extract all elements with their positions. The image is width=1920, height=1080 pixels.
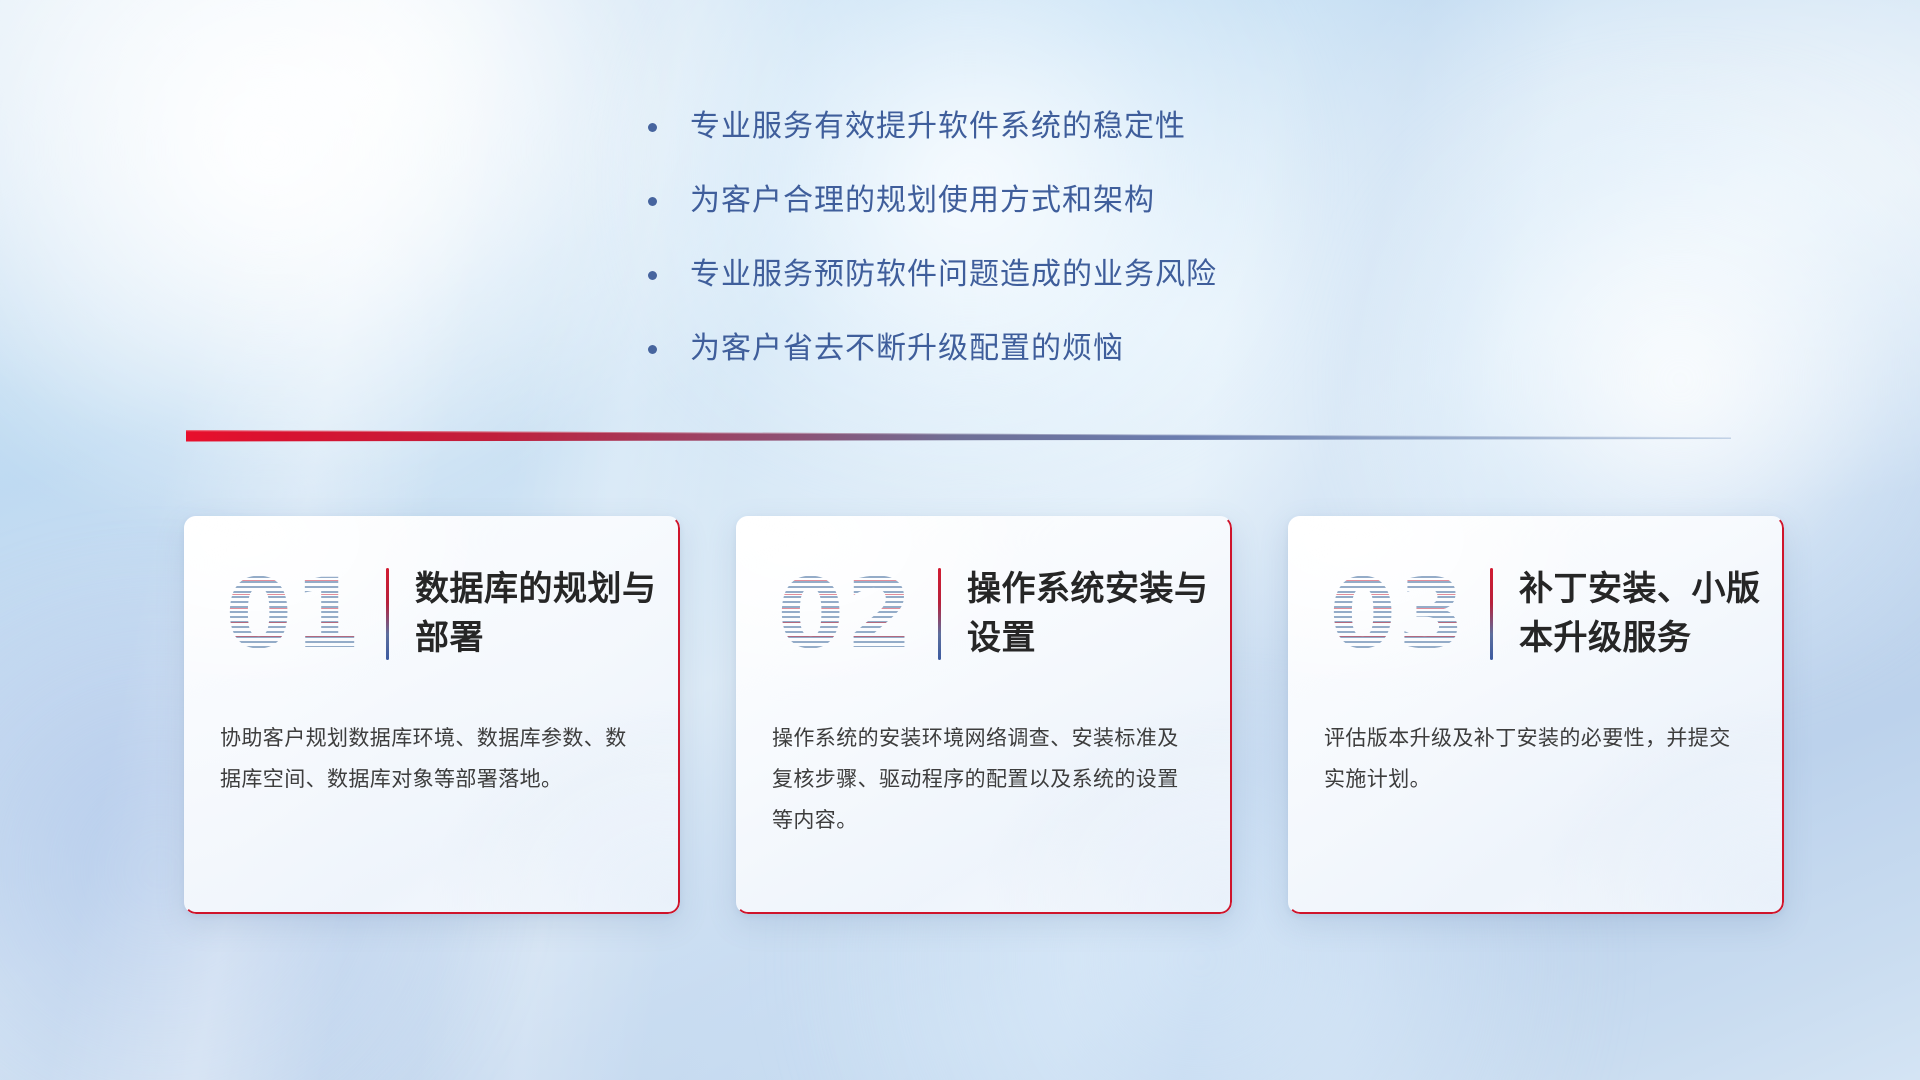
card-header: 02 操作系统安装与设置 <box>736 516 1232 698</box>
section-divider <box>186 428 1731 444</box>
service-card[interactable]: 03 补丁安装、小版本升级服务 评估版本升级及补丁安装的必要性，并提交实施计划。 <box>1288 516 1784 914</box>
bullet-item: 专业服务预防软件问题造成的业务风险 <box>648 252 1508 298</box>
card-description: 协助客户规划数据库环境、数据库参数、数据库空间、数据库对象等部署落地。 <box>220 718 646 800</box>
bullet-dot-icon <box>648 345 657 354</box>
service-card[interactable]: 01 数据库的规划与部署 协助客户规划数据库环境、数据库参数、数据库空间、数据库… <box>184 516 680 914</box>
benefits-bullet-list: 专业服务有效提升软件系统的稳定性 为客户合理的规划使用方式和架构 专业服务预防软… <box>648 104 1508 400</box>
bullet-item-label: 为客户省去不断升级配置的烦恼 <box>690 326 1124 372</box>
card-description: 操作系统的安装环境网络调查、安装标准及复核步骤、驱动程序的配置以及系统的设置等内… <box>772 718 1198 841</box>
card-title: 数据库的规划与部署 <box>415 565 680 663</box>
background-bloom-top-left <box>0 0 720 530</box>
card-vertical-rule <box>1490 568 1493 660</box>
bullet-dot-icon <box>648 197 657 206</box>
card-title: 补丁安装、小版本升级服务 <box>1519 565 1784 663</box>
divider-wedge-shape <box>186 428 1731 444</box>
service-card[interactable]: 02 操作系统安装与设置 操作系统的安装环境网络调查、安装标准及复核步骤、驱动程… <box>736 516 1232 914</box>
bullet-item-label: 为客户合理的规划使用方式和架构 <box>690 178 1155 224</box>
slide-canvas: 专业服务有效提升软件系统的稳定性 为客户合理的规划使用方式和架构 专业服务预防软… <box>0 0 1920 1080</box>
card-number: 01 <box>206 566 382 662</box>
bullet-item: 为客户省去不断升级配置的烦恼 <box>648 326 1508 372</box>
bullet-item: 专业服务有效提升软件系统的稳定性 <box>648 104 1508 150</box>
card-vertical-rule <box>938 568 941 660</box>
service-cards-row: 01 数据库的规划与部署 协助客户规划数据库环境、数据库参数、数据库空间、数据库… <box>184 516 1784 916</box>
bullet-item-label: 专业服务有效提升软件系统的稳定性 <box>690 104 1186 150</box>
card-vertical-rule <box>386 568 389 660</box>
card-description: 评估版本升级及补丁安装的必要性，并提交实施计划。 <box>1324 718 1750 800</box>
card-header: 01 数据库的规划与部署 <box>184 516 680 698</box>
card-header: 03 补丁安装、小版本升级服务 <box>1288 516 1784 698</box>
card-number: 03 <box>1310 566 1486 662</box>
card-number: 02 <box>758 566 934 662</box>
bullet-item-label: 专业服务预防软件问题造成的业务风险 <box>690 252 1217 298</box>
bullet-dot-icon <box>648 123 657 132</box>
bullet-dot-icon <box>648 271 657 280</box>
bullet-item: 为客户合理的规划使用方式和架构 <box>648 178 1508 224</box>
card-title: 操作系统安装与设置 <box>967 565 1232 663</box>
